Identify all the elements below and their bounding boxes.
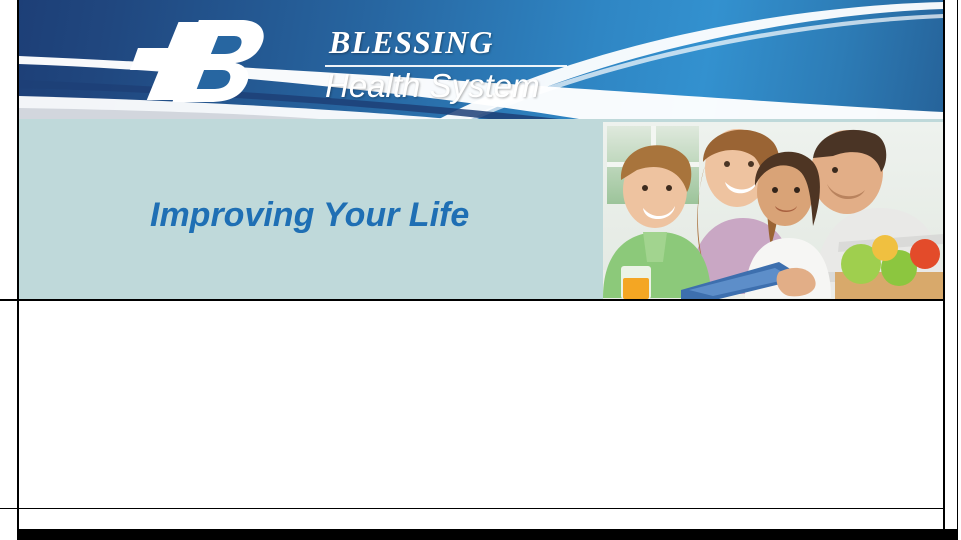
tagline-text: Improving Your Life (150, 196, 469, 235)
frame-divider-upper (0, 299, 944, 301)
frame-border-left (17, 0, 19, 532)
photo-juice-glass (621, 266, 651, 299)
frame-bottom-bar (17, 529, 957, 540)
logo-subtitle: Health System (325, 67, 540, 105)
frame-border-outer (957, 0, 958, 540)
family-photo (603, 122, 943, 299)
header-banner: BLESSING Health System (19, 0, 943, 119)
slide-footer-strip (19, 509, 943, 529)
slide-page: BLESSING Health System Improving Your Li… (0, 0, 961, 540)
slide-body-area (19, 301, 943, 508)
logo-wordmark: BLESSING (329, 24, 494, 61)
family-photo-illustration (603, 122, 943, 299)
blessing-logo: BLESSING Health System (127, 8, 467, 108)
frame-border-right (943, 0, 945, 532)
frame-divider-lower (0, 508, 944, 509)
